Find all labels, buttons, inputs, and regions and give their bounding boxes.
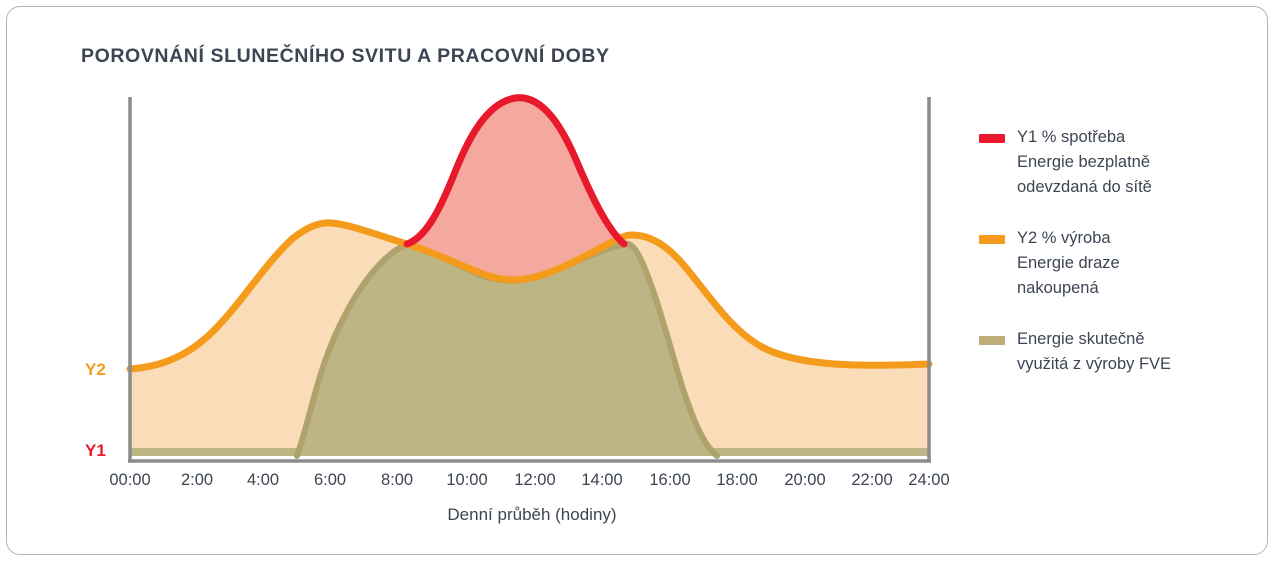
x-tick-3: 6:00 (314, 471, 346, 490)
x-tick-0: 00:00 (109, 471, 150, 490)
x-tick-9: 18:00 (716, 471, 757, 490)
x-tick-4: 8:00 (381, 471, 413, 490)
x-tick-11: 22:00 (851, 471, 892, 490)
legend-text-fve: Energie skutečně využitá z výroby FVE (1017, 327, 1253, 377)
y-axis-label-y2: Y2 (85, 360, 106, 380)
x-tick-7: 14:00 (581, 471, 622, 490)
x-axis-ticks: 00:00 2:00 4:00 6:00 8:00 10:00 12:00 14… (7, 471, 1269, 495)
x-tick-12: 24:00 (908, 471, 949, 490)
legend-line-2: Energie draze (1017, 251, 1253, 276)
x-axis-title: Denní průběh (hodiny) (347, 505, 717, 525)
legend-swatch-icon-fve (979, 336, 1005, 345)
legend-line-1: Y1 % spotřeba (1017, 125, 1253, 150)
y-axis-label-y1: Y1 (85, 441, 106, 461)
legend-line-2: Energie bezplatně (1017, 150, 1253, 175)
x-tick-2b: 4:00 (247, 471, 279, 490)
legend-line-1: Y2 % výroba (1017, 226, 1253, 251)
x-tick-6: 12:00 (514, 471, 555, 490)
legend-swatch-icon-y2 (979, 235, 1005, 244)
legend-item-fve-vyuzita[interactable]: Energie skutečně využitá z výroby FVE (973, 327, 1253, 377)
legend-line-2: využitá z výroby FVE (1017, 352, 1253, 377)
x-tick-1: 2:00 (181, 471, 213, 490)
legend-line-3: nakoupená (1017, 276, 1253, 301)
chart-card: POROVNÁNÍ SLUNEČNÍHO SVITU A PRACOVNÍ DO… (6, 6, 1268, 555)
x-tick-8: 16:00 (649, 471, 690, 490)
x-tick-5: 10:00 (446, 471, 487, 490)
x-tick-10: 20:00 (784, 471, 825, 490)
legend-line-1: Energie skutečně (1017, 327, 1253, 352)
legend-text-y1: Y1 % spotřeba Energie bezplatně odevzdan… (1017, 125, 1253, 200)
legend-line-3: odevzdaná do sítě (1017, 175, 1253, 200)
baseline-strip (130, 448, 929, 456)
legend-item-y1-spotreba[interactable]: Y1 % spotřeba Energie bezplatně odevzdan… (973, 125, 1253, 200)
legend-text-y2: Y2 % výroba Energie draze nakoupená (1017, 226, 1253, 301)
chart-legend: Y1 % spotřeba Energie bezplatně odevzdan… (973, 125, 1253, 403)
legend-item-y2-vyroba[interactable]: Y2 % výroba Energie draze nakoupená (973, 226, 1253, 301)
legend-swatch-icon-y1 (979, 134, 1005, 143)
